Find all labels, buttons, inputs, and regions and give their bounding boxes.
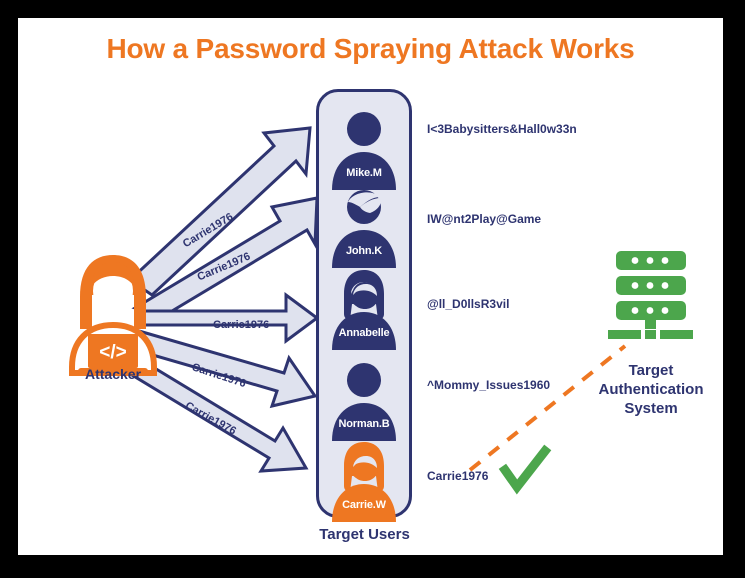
user-name-label: John.K xyxy=(320,245,408,257)
user-avatar-carrie[interactable]: Carrie.W xyxy=(320,442,408,522)
password-label-norman: ^Mommy_Issues1960 xyxy=(427,378,550,392)
password-label-john: IW@nt2Play@Game xyxy=(427,212,541,226)
server-caption-line-2: Authentication xyxy=(566,380,736,399)
user-name-label: Mike.M xyxy=(320,167,408,179)
password-label-mike: I<3Babysitters&Hall0w33n xyxy=(427,122,577,136)
server-rack-icon xyxy=(598,251,703,341)
attacker-label: Attacker xyxy=(48,366,178,382)
server-caption: Target Authentication System xyxy=(566,361,736,419)
user-avatar-norman[interactable]: Norman.B xyxy=(320,361,408,441)
user-name-label: Annabelle xyxy=(320,327,408,339)
diagram-frame: .arr { fill: #DFE2EE; stroke: #2E3470; s… xyxy=(18,18,723,555)
page-title: How a Password Spraying Attack Works xyxy=(18,33,723,65)
user-avatar-annabelle[interactable]: Annabelle xyxy=(320,270,408,350)
user-name-label: Norman.B xyxy=(320,418,408,430)
user-avatar-john[interactable]: John.K xyxy=(320,188,408,268)
user-name-label: Carrie.W xyxy=(320,499,408,511)
green-check-icon xyxy=(505,451,545,487)
server-caption-line-1: Target xyxy=(566,361,736,380)
user-avatar-mike[interactable]: Mike.M xyxy=(320,110,408,190)
target-users-caption: Target Users xyxy=(302,526,427,543)
server-caption-line-3: System xyxy=(566,399,736,418)
arrow-label-3: Carrie1976 xyxy=(213,319,269,331)
password-label-annabelle: @ll_D0llsR3vil xyxy=(427,297,509,311)
password-label-carrie: Carrie1976 xyxy=(427,469,488,483)
svg-text:</>: </> xyxy=(99,342,126,363)
